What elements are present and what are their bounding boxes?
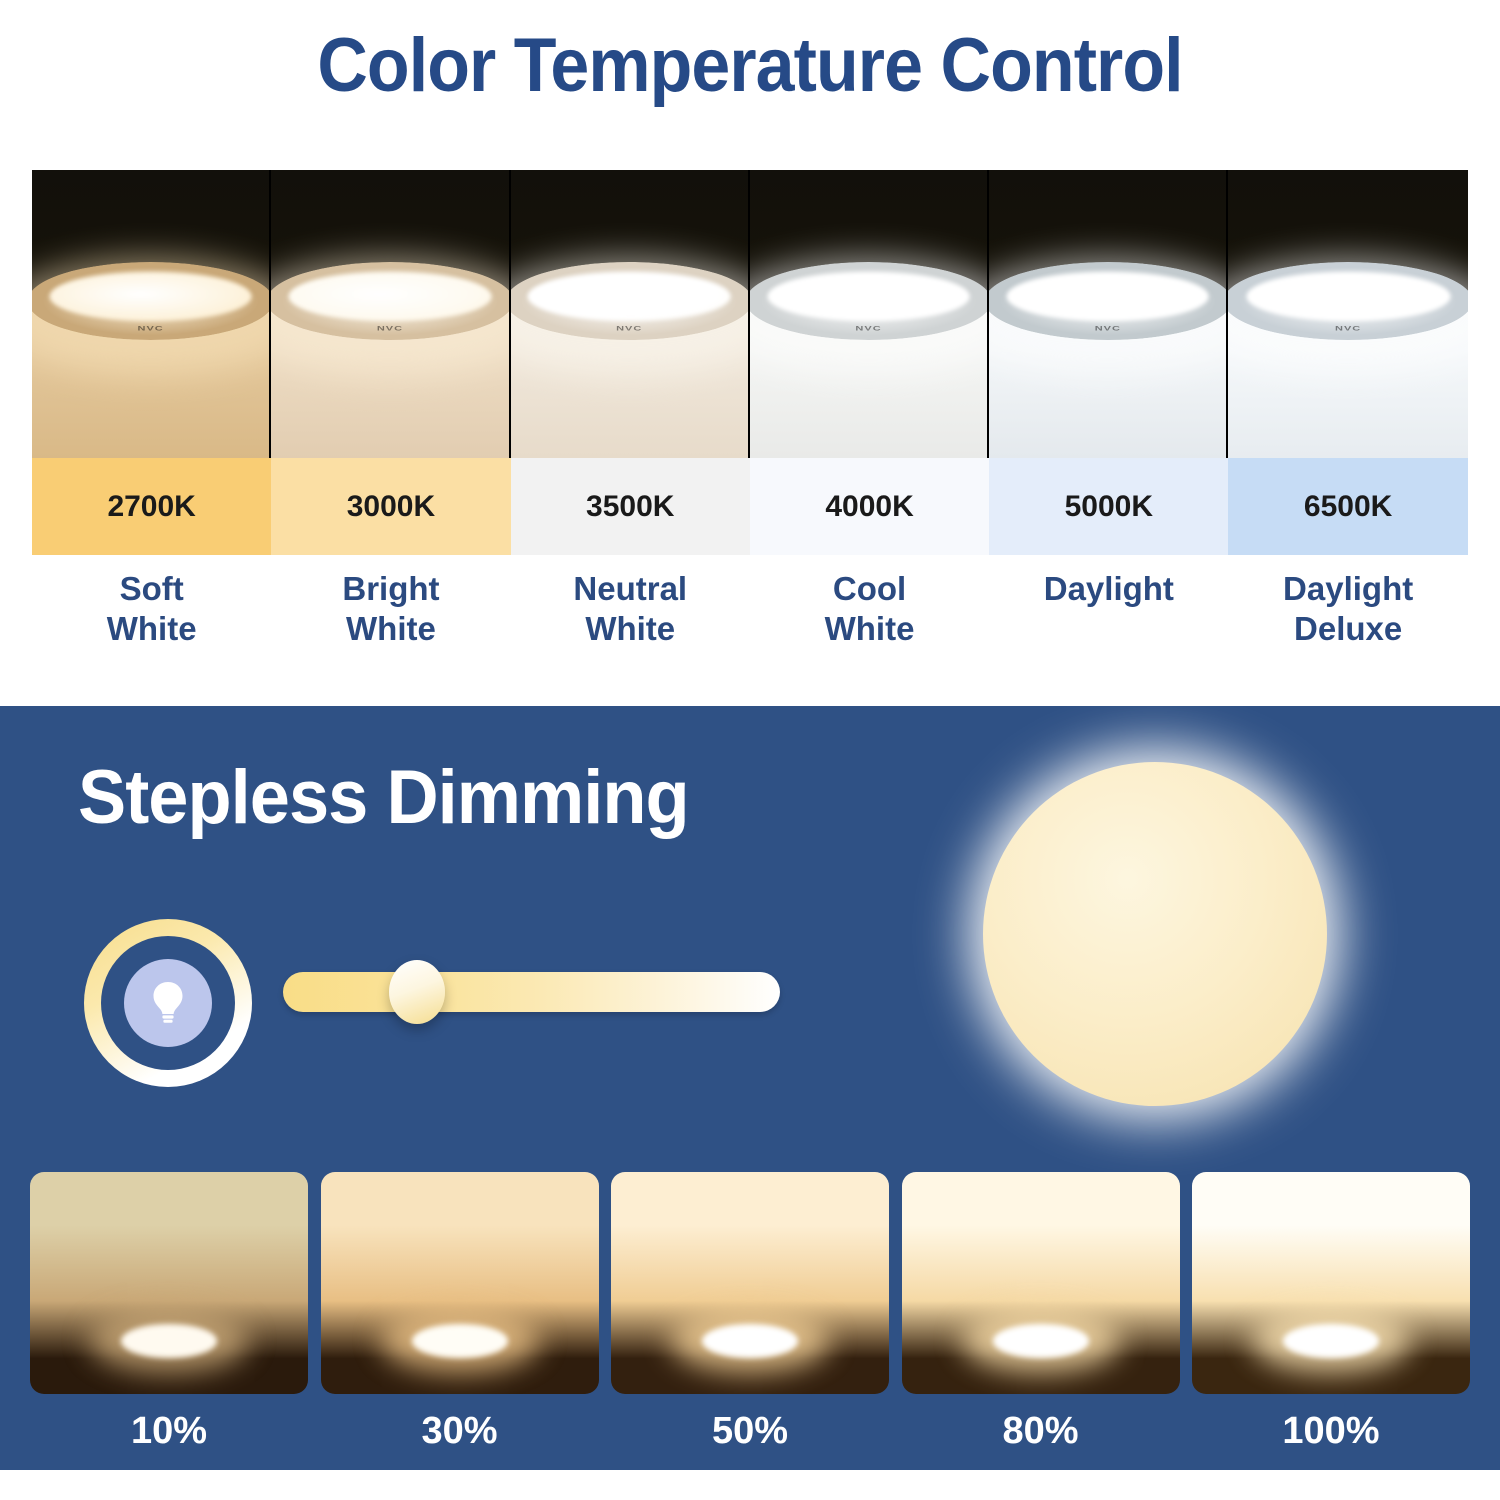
cct-name-line2: White — [511, 609, 750, 649]
dimming-levels-row: 10% 30% 50% 80% — [30, 1172, 1470, 1453]
cct-column-2700k[interactable]: NVC 2700K Soft White — [32, 170, 271, 665]
dim-level-100[interactable]: 100% — [1192, 1172, 1470, 1453]
dim-level-label: 30% — [321, 1410, 599, 1453]
light-bulb-icon — [148, 979, 188, 1027]
dim-level-label: 50% — [611, 1410, 889, 1453]
fixture-lens — [49, 272, 251, 322]
dim-hotspot — [412, 1324, 508, 1358]
brand-text: NVC — [138, 325, 164, 332]
cct-name-line2: White — [271, 609, 510, 649]
downlight-photo: NVC — [511, 170, 750, 458]
cct-name-line2: White — [750, 609, 989, 649]
cct-name-label: Daylight Deluxe — [1228, 555, 1467, 665]
orb-body — [983, 762, 1327, 1106]
slider-track[interactable] — [283, 972, 780, 1012]
dim-level-label: 80% — [902, 1410, 1180, 1453]
fixture-lens — [528, 272, 730, 322]
brightness-dial-icon[interactable] — [84, 919, 252, 1087]
cct-name-line1: Neutral — [511, 569, 750, 609]
cct-name-line2: Deluxe — [1228, 609, 1467, 649]
fixture-lens — [289, 272, 491, 322]
cct-name-line1: Soft — [32, 569, 271, 609]
downlight-photo: NVC — [989, 170, 1228, 458]
dim-level-label: 100% — [1192, 1410, 1470, 1453]
brand-text: NVC — [377, 325, 403, 332]
downlight-photo: NVC — [32, 170, 271, 458]
dim-level-50[interactable]: 50% — [611, 1172, 889, 1453]
dim-level-photo — [1192, 1172, 1470, 1394]
dimming-title: Stepless Dimming — [78, 754, 689, 841]
kelvin-swatch: 5000K — [989, 458, 1228, 555]
kelvin-swatch: 3500K — [511, 458, 750, 555]
cct-name-line1: Cool — [750, 569, 989, 609]
cct-name-line2: White — [32, 609, 271, 649]
cct-name-label: Neutral White — [511, 555, 750, 665]
cct-column-4000k[interactable]: NVC 4000K Cool White — [750, 170, 989, 665]
cct-column-6500k[interactable]: NVC 6500K Daylight Deluxe — [1228, 170, 1467, 665]
brightness-slider[interactable] — [283, 972, 780, 1012]
fixture-lens — [1007, 272, 1209, 322]
dim-level-80[interactable]: 80% — [902, 1172, 1180, 1453]
cct-column-3500k[interactable]: NVC 3500K Neutral White — [511, 170, 750, 665]
dim-level-photo — [30, 1172, 308, 1394]
cct-name-line1: Bright — [271, 569, 510, 609]
kelvin-swatch: 2700K — [32, 458, 271, 555]
downlight-photo: NVC — [271, 170, 510, 458]
dim-level-label: 10% — [30, 1410, 308, 1453]
fixture-lens — [767, 272, 969, 322]
brand-text: NVC — [616, 325, 642, 332]
downlight-photo: NVC — [750, 170, 989, 458]
dim-level-photo — [321, 1172, 599, 1394]
cct-name-label: Bright White — [271, 555, 510, 665]
kelvin-swatch: 6500K — [1228, 458, 1467, 555]
page-title: Color Temperature Control — [60, 22, 1440, 109]
dim-hotspot — [993, 1324, 1089, 1358]
kelvin-swatch: 4000K — [750, 458, 989, 555]
fixture-lens — [1246, 272, 1450, 322]
cct-name-label: Soft White — [32, 555, 271, 665]
cct-name-label: Cool White — [750, 555, 989, 665]
downlight-photo: NVC — [1228, 170, 1467, 458]
cct-column-5000k[interactable]: NVC 5000K Daylight — [989, 170, 1228, 665]
cct-column-3000k[interactable]: NVC 3000K Bright White — [271, 170, 510, 665]
brand-text: NVC — [1095, 325, 1121, 332]
bottom-white-strip — [0, 1470, 1500, 1500]
dim-level-30[interactable]: 30% — [321, 1172, 599, 1453]
cct-name-label: Daylight — [989, 555, 1228, 665]
brand-text: NVC — [855, 325, 881, 332]
dim-hotspot — [1283, 1324, 1379, 1358]
color-temperature-grid: NVC 2700K Soft White NVC 3000K — [32, 170, 1468, 665]
dim-level-photo — [902, 1172, 1180, 1394]
cct-name-line1: Daylight — [989, 569, 1228, 609]
cct-name-line1: Daylight — [1228, 569, 1467, 609]
stepless-dimming-section: Stepless Dimming 10% — [0, 706, 1500, 1470]
brand-text: NVC — [1335, 325, 1361, 332]
kelvin-swatch: 3000K — [271, 458, 510, 555]
dim-level-10[interactable]: 10% — [30, 1172, 308, 1453]
dim-hotspot — [702, 1324, 798, 1358]
slider-thumb[interactable] — [389, 960, 445, 1024]
color-temperature-section: Color Temperature Control NVC 2700K Soft… — [0, 0, 1500, 706]
dim-level-photo — [611, 1172, 889, 1394]
glowing-light-orb — [955, 724, 1355, 1144]
dim-hotspot — [121, 1324, 217, 1358]
